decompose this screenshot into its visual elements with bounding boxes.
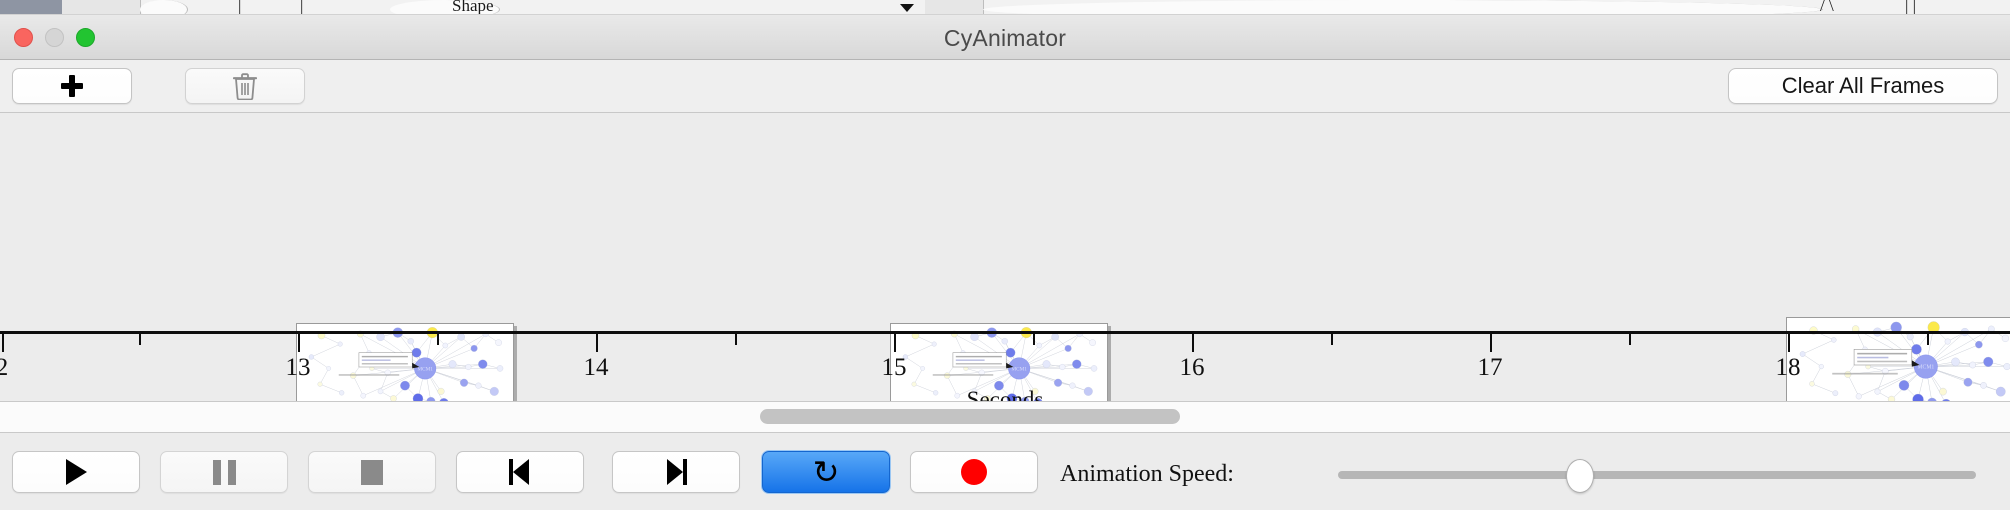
axis-tick-label: 18 — [1776, 354, 1801, 382]
record-button[interactable] — [910, 451, 1038, 493]
background-window-strip: | | Shape / \ | | — [0, 0, 2010, 15]
cyanimator-window: CyAnimator Clear All Frames MCM1MCM1MCM1 — [0, 14, 2010, 510]
timeline-scrollbar-thumb[interactable] — [760, 409, 1180, 424]
axis-tick-minor — [1629, 334, 1631, 345]
skip-forward-icon — [663, 459, 689, 485]
record-icon — [961, 459, 987, 485]
stop-button[interactable] — [308, 451, 436, 493]
axis-tick-major — [298, 334, 300, 352]
background-caret-icon — [900, 4, 914, 12]
axis-tick-minor — [1927, 334, 1929, 345]
background-tab-3 — [140, 0, 188, 15]
plus-icon — [61, 75, 83, 97]
clear-all-frames-button[interactable]: Clear All Frames — [1728, 68, 1998, 104]
play-button[interactable] — [12, 451, 140, 493]
background-tab-6 — [983, 0, 1823, 15]
delete-frame-button[interactable] — [185, 68, 305, 104]
background-glyph-1: | — [238, 0, 241, 15]
axis-title: Seconds — [0, 387, 2010, 402]
background-tab-1 — [0, 0, 63, 14]
axis-tick-major — [894, 334, 896, 352]
pause-icon — [213, 460, 236, 485]
frames-toolbar: Clear All Frames — [0, 60, 2010, 113]
axis-tick-minor — [139, 334, 141, 345]
animation-speed-slider[interactable] — [1338, 471, 1976, 479]
playback-controls: ↻ Animation Speed: — [0, 433, 2010, 510]
play-icon — [66, 459, 87, 485]
axis-tick-label: 17 — [1478, 354, 1503, 382]
skip-back-icon — [507, 459, 533, 485]
background-glyph-4: | | — [1905, 0, 1916, 15]
axis-tick-minor — [1033, 334, 1035, 345]
background-glyph-3: / \ — [1820, 0, 1834, 15]
trash-icon — [233, 72, 257, 100]
skip-start-button[interactable] — [456, 451, 584, 493]
background-window-label: Shape — [452, 0, 494, 15]
loop-button[interactable]: ↻ — [762, 451, 890, 493]
axis-tick-label: 13 — [286, 354, 311, 382]
background-glyph-2: | — [300, 0, 303, 15]
axis-tick-major — [2, 334, 4, 352]
pause-button[interactable] — [160, 451, 288, 493]
axis-tick-label: 16 — [1180, 354, 1205, 382]
animation-speed-label: Animation Speed: — [1060, 461, 1234, 488]
slider-thumb[interactable] — [1566, 459, 1594, 493]
axis-tick-major — [1490, 334, 1492, 352]
window-title: CyAnimator — [0, 25, 2010, 52]
stop-icon — [361, 460, 383, 485]
axis-tick-label: 15 — [882, 354, 907, 382]
add-frame-button[interactable] — [12, 68, 132, 104]
cyanimator-screen: | | Shape / \ | | CyAnimator — [0, 0, 2010, 510]
axis-tick-minor — [1331, 334, 1333, 345]
timeline-scrollbar[interactable] — [0, 402, 2010, 433]
slider-track — [1338, 471, 1976, 479]
background-tab-2 — [62, 0, 141, 14]
timeline-panel[interactable]: MCM1MCM1MCM1 Seconds 2131415161718 — [0, 113, 2010, 402]
frame-thumbnails-layer: MCM1MCM1MCM1 — [0, 113, 2010, 331]
background-tab-5 — [925, 0, 984, 14]
axis-line — [0, 331, 2010, 334]
axis-tick-major — [1788, 334, 1790, 352]
loop-icon: ↻ — [813, 456, 840, 488]
axis-tick-major — [1192, 334, 1194, 352]
axis-tick-label: 14 — [584, 354, 609, 382]
timeline-axis: Seconds 2131415161718 — [0, 331, 2010, 401]
axis-tick-label: 2 — [0, 354, 8, 382]
axis-tick-minor — [735, 334, 737, 345]
skip-end-button[interactable] — [612, 451, 740, 493]
window-titlebar: CyAnimator — [0, 15, 2010, 60]
axis-tick-minor — [437, 334, 439, 345]
axis-tick-major — [596, 334, 598, 352]
